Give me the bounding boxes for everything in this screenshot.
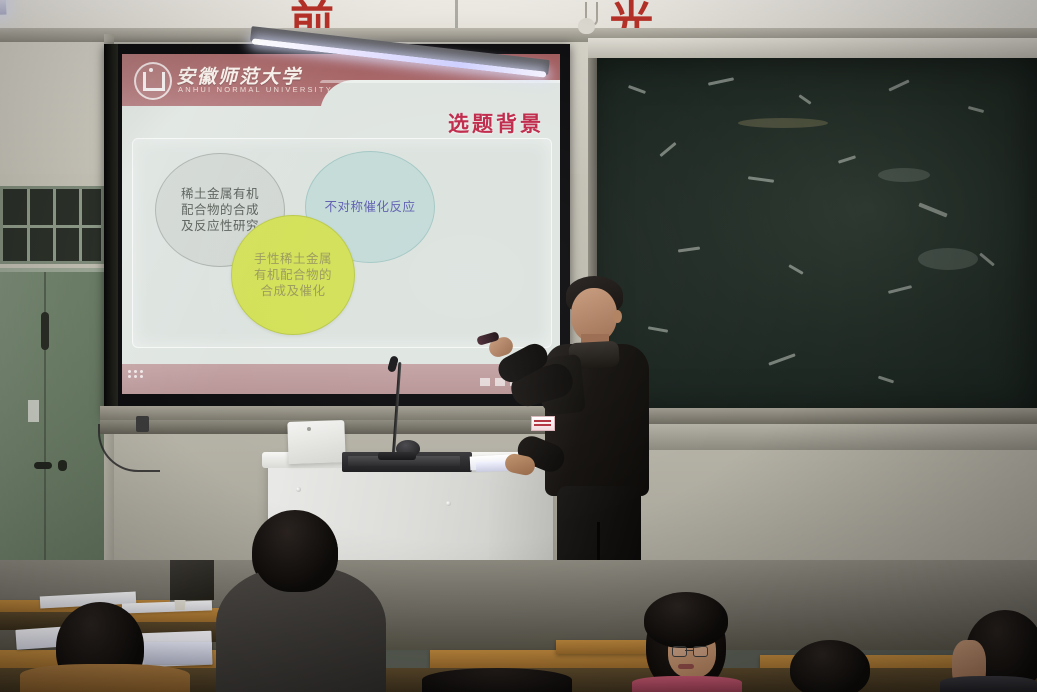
presenter-ear: [613, 310, 622, 323]
venn-bottom-line-2: 有机配合物的: [254, 267, 332, 283]
banner-text: 前 光: [290, 0, 783, 30]
glasses-icon: [672, 646, 706, 655]
university-name-en: ANHUI NORMAL UNIVERSITY: [178, 85, 333, 94]
door-handle[interactable]: [34, 462, 52, 469]
venn-left-line-1: 稀土金属有机: [181, 186, 259, 202]
classroom-door[interactable]: [0, 268, 104, 572]
podium-screw-left: [296, 487, 301, 492]
venn-bottom-line-3: 合成及催化: [254, 283, 332, 299]
venn-right-line-1: 不对称催化反应: [324, 199, 415, 215]
laptop-hinge-screw: [307, 427, 311, 431]
venn-diagram: 稀土金属有机 配合物的合成 及反应性研究 不对称催化反应 手性稀土金属 有机配合…: [133, 139, 551, 347]
audience-head-center-right: [790, 640, 870, 692]
wall-socket: [136, 416, 149, 432]
footer-dot-decoration: [128, 370, 152, 382]
door-transom-window: [0, 186, 104, 264]
laptop-screen[interactable]: [287, 420, 345, 464]
audience-body-glasses: [632, 676, 742, 692]
audience-shoulder-back: [170, 560, 214, 600]
ceiling-bulb: [578, 18, 595, 34]
slide-footer-band: [122, 364, 560, 394]
university-seal-icon: [134, 62, 172, 100]
venn-left-line-3: 及反应性研究: [181, 218, 259, 234]
banner-fold: [455, 0, 458, 30]
door-lock-icon[interactable]: [58, 460, 67, 471]
blackboard-top-trim: [588, 38, 1037, 60]
ceiling-banner: 前 光: [0, 0, 1037, 30]
podium-screw-right: [446, 501, 451, 506]
slide-content-panel: 稀土金属有机 配合物的合成 及反应性研究 不对称催化反应 手性稀土金属 有机配合…: [132, 138, 552, 348]
audience-hair-center: [254, 512, 338, 592]
venn-bottom-line-1: 手性稀土金属: [254, 251, 332, 267]
venn-circle-bottom[interactable]: 手性稀土金属 有机配合物的 合成及催化: [231, 215, 355, 335]
projection-screen-left-edge: [104, 44, 118, 416]
audience-hair-glasses: [644, 592, 728, 648]
microphone-base: [378, 452, 416, 460]
door-latch: [41, 312, 49, 350]
door-plate: [28, 400, 39, 422]
audience-head-front-center: [422, 668, 572, 692]
paper-stack-center-lower: [144, 642, 212, 664]
lecture-hall-photo: 前 光: [0, 0, 1037, 692]
slide-title: 选题背景: [122, 108, 544, 138]
audience-smile: [678, 664, 694, 669]
presenter-name-badge: [531, 416, 555, 431]
venn-left-line-2: 配合物的合成: [181, 202, 259, 218]
audience-body-right: [940, 676, 1037, 692]
audience-body-left: [20, 664, 190, 692]
